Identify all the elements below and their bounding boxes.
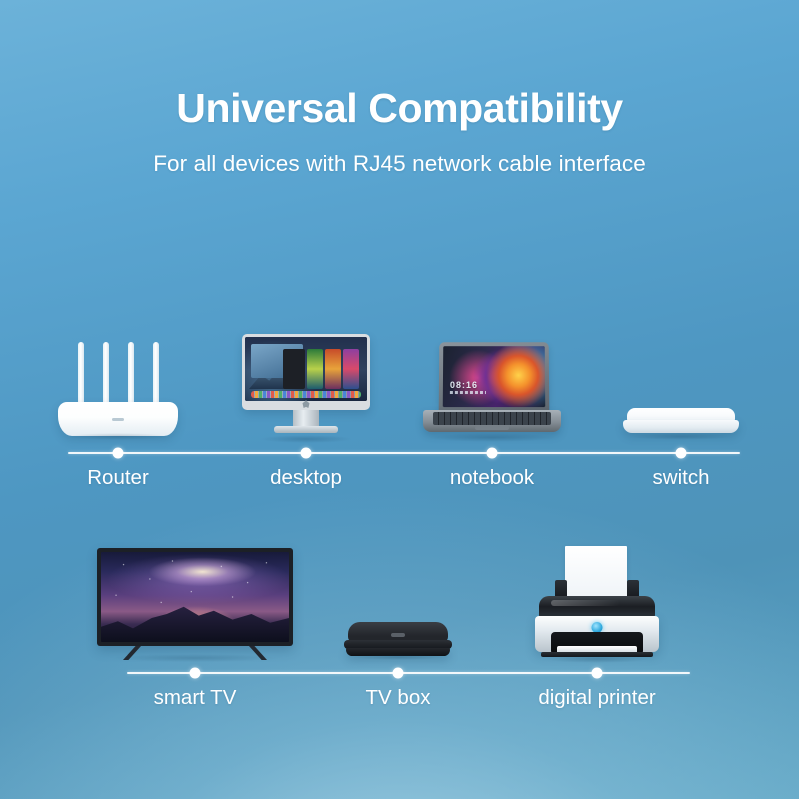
device-item-switch[interactable]	[623, 406, 739, 440]
desktop-display	[242, 334, 370, 410]
device-label-router: Router	[87, 466, 149, 490]
device-row-2-icons	[0, 520, 799, 660]
desktop-dock	[251, 391, 361, 398]
desktop-window-thumb-3	[343, 349, 359, 389]
device-item-smart-tv[interactable]	[97, 548, 293, 660]
switch-front-face	[623, 420, 739, 433]
desktop-window-editor	[283, 349, 305, 389]
device-item-tv-box[interactable]	[342, 618, 454, 660]
device-item-desktop[interactable]	[242, 334, 370, 440]
notebook-icon: 08:16	[417, 342, 567, 440]
page-subtitle: For all devices with RJ45 network cable …	[0, 151, 799, 177]
notebook-clock-widget: 08:16	[450, 380, 478, 390]
router-antenna-4	[153, 342, 159, 406]
row-2-dot-digital-printer	[592, 668, 603, 679]
device-row-2-connector: smart TV TV box digital printer	[0, 660, 799, 720]
row-2-dot-tv-box	[393, 668, 404, 679]
device-label-notebook: notebook	[450, 466, 534, 490]
tv-box-icon	[342, 618, 454, 660]
smart-tv-icon	[97, 548, 293, 660]
row-1-dot-notebook	[487, 448, 498, 459]
router-antenna-2	[103, 342, 109, 406]
router-chassis	[58, 402, 178, 436]
device-row-2: smart TV TV box digital printer	[0, 520, 799, 720]
desktop-window-thumb-1	[307, 349, 323, 389]
device-row-1-icons: 08:16	[0, 300, 799, 440]
router-shadow	[66, 433, 170, 440]
digital-printer-icon	[531, 546, 663, 660]
smart-tv-bezel	[97, 548, 293, 646]
router-antenna-3	[128, 342, 134, 406]
notebook-trackpad	[475, 426, 509, 430]
row-2-dot-smart-tv	[190, 668, 201, 679]
desktop-window-thumb-2	[325, 349, 341, 389]
row-1-dot-router	[113, 448, 124, 459]
row-1-dot-switch	[676, 448, 687, 459]
device-row-1: 08:16	[0, 300, 799, 500]
notebook-keyboard	[433, 412, 551, 425]
smart-tv-screen-content	[101, 552, 289, 642]
switch-shadow	[631, 433, 731, 440]
device-row-1-connector: Router desktop notebook switch	[0, 440, 799, 500]
device-label-desktop: desktop	[270, 466, 342, 490]
router-icon	[58, 340, 178, 440]
device-item-notebook[interactable]: 08:16	[417, 342, 567, 440]
notebook-lid: 08:16	[439, 342, 550, 412]
desktop-screen-content	[245, 337, 367, 401]
printer-scanner-lid	[539, 596, 655, 618]
notebook-screen-content: 08:16	[443, 346, 546, 407]
device-label-switch: switch	[653, 466, 710, 490]
row-1-dot-desktop	[301, 448, 312, 459]
row-2-rule	[127, 672, 690, 674]
device-item-digital-printer[interactable]	[531, 546, 663, 660]
promo-background: Universal Compatibility For all devices …	[0, 0, 799, 799]
desktop-stand-foot	[274, 426, 338, 433]
device-label-digital-printer: digital printer	[538, 686, 655, 710]
header-block: Universal Compatibility For all devices …	[0, 86, 799, 177]
device-item-router[interactable]	[58, 340, 178, 440]
desktop-icon	[242, 334, 370, 440]
switch-icon	[623, 406, 739, 440]
notebook-wallpaper	[443, 346, 546, 407]
device-label-smart-tv: smart TV	[154, 686, 237, 710]
page-title: Universal Compatibility	[0, 86, 799, 132]
router-antenna-1	[78, 342, 84, 406]
row-1-rule	[68, 452, 740, 454]
device-label-tv-box: TV box	[366, 686, 431, 710]
tv-box-top-face	[348, 622, 448, 642]
notebook-clock-subtext	[450, 391, 486, 394]
